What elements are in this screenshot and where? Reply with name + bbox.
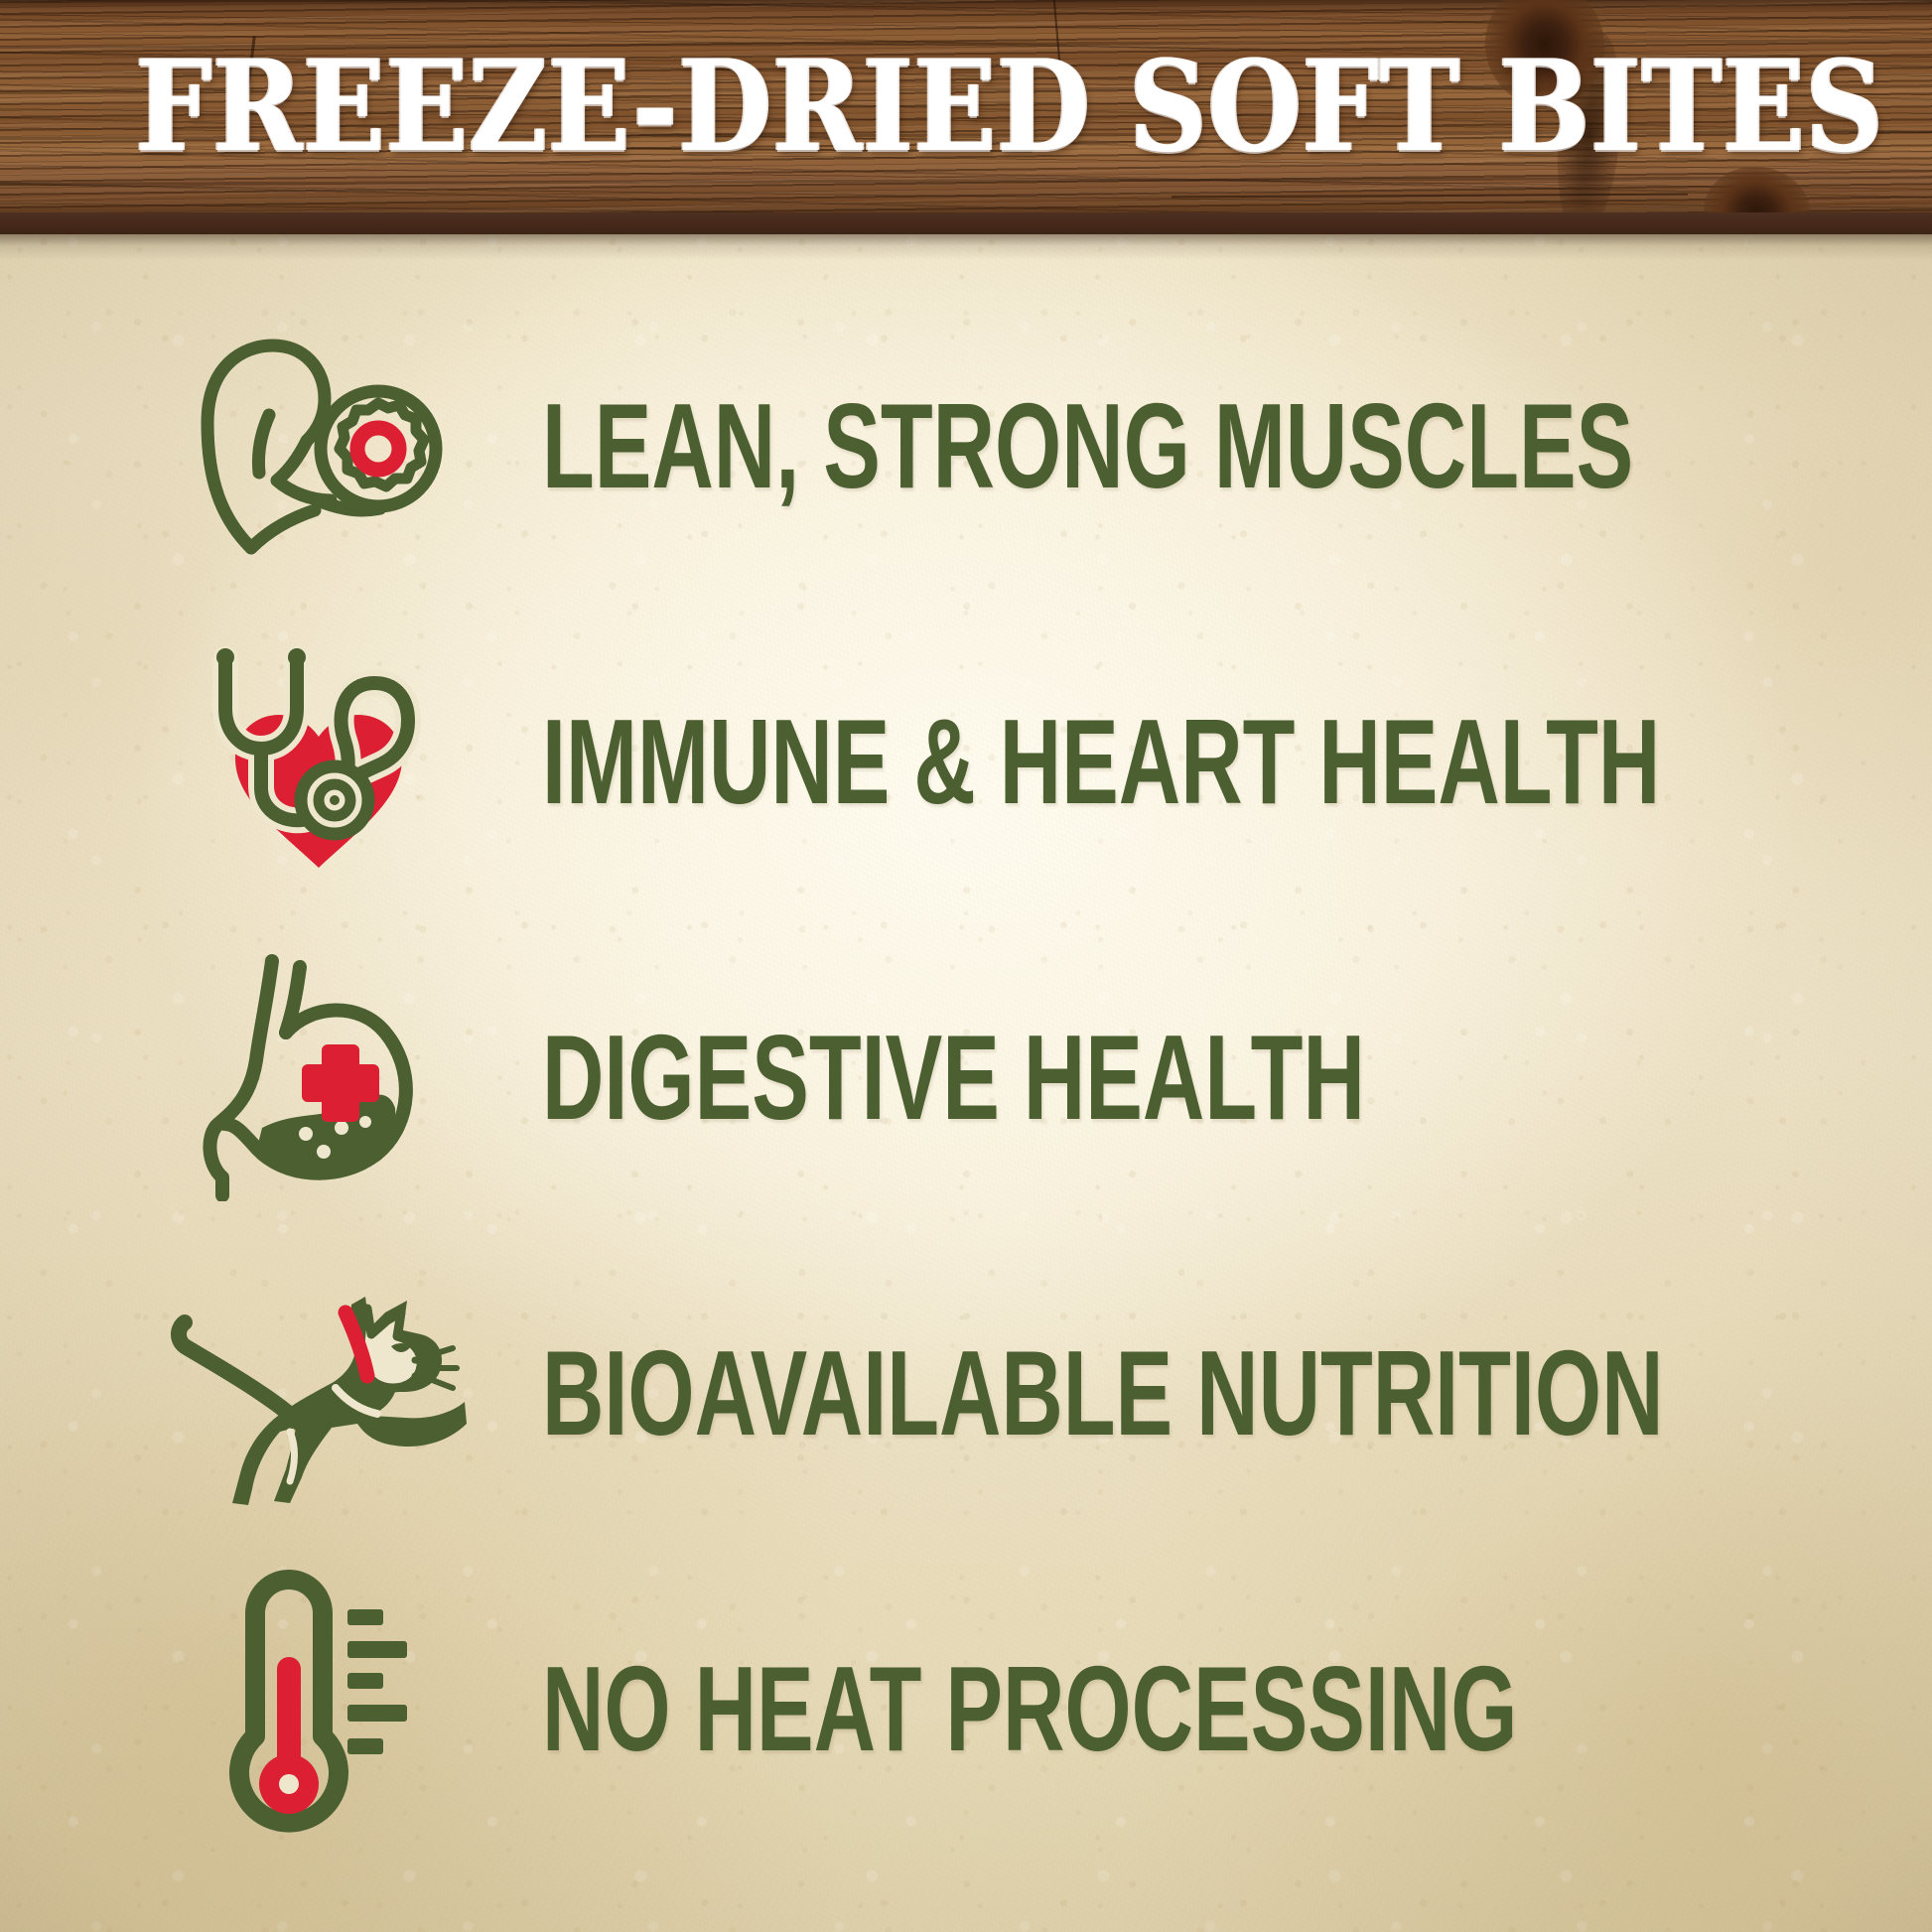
banner-title: FREEZE-DRIED SOFT BITES xyxy=(135,44,1797,169)
wood-header-banner: FREEZE-DRIED SOFT BITES xyxy=(0,0,1932,234)
leaping-cat-icon xyxy=(171,1259,469,1527)
benefits-list: LEAN, STRONG MUSCLES xyxy=(0,260,1932,1932)
benefit-label: NO HEAT PROCESSING xyxy=(542,1648,1518,1769)
stethoscope-heart-icon xyxy=(171,627,469,896)
stomach-medical-cross-icon xyxy=(171,943,469,1211)
flexed-bicep-dumbbell-icon xyxy=(171,312,469,580)
wood-bottom-edge xyxy=(0,212,1932,234)
benefit-row-bioavailable-nutrition: BIOAVAILABLE NUTRITION xyxy=(0,1235,1932,1551)
benefit-row-immune-heart-health: IMMUNE & HEART HEALTH xyxy=(0,604,1932,919)
freeze-dried-soft-bites-poster: FREEZE-DRIED SOFT BITES xyxy=(0,0,1932,1932)
benefit-label: DIGESTIVE HEALTH xyxy=(542,1017,1365,1138)
benefit-label: LEAN, STRONG MUSCLES xyxy=(542,385,1633,506)
benefit-row-lean-strong-muscles: LEAN, STRONG MUSCLES xyxy=(0,288,1932,604)
benefit-label: BIOAVAILABLE NUTRITION xyxy=(542,1332,1664,1453)
thermometer-icon xyxy=(171,1575,469,1843)
benefit-label: IMMUNE & HEART HEALTH xyxy=(542,701,1660,822)
benefit-row-no-heat-processing: NO HEAT PROCESSING xyxy=(0,1551,1932,1866)
benefit-row-digestive-health: DIGESTIVE HEALTH xyxy=(0,919,1932,1235)
